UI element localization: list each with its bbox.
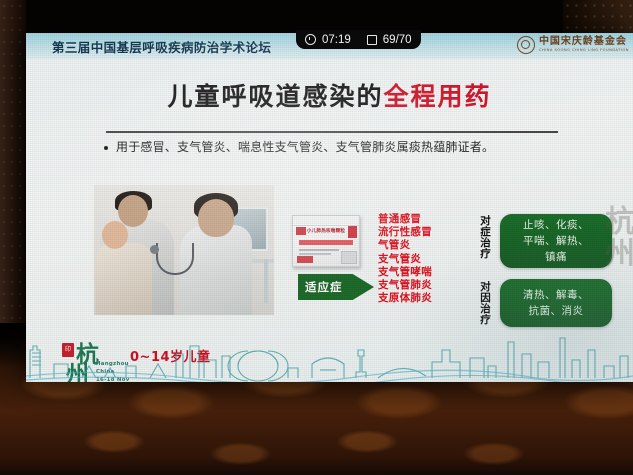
disease-item: 支气管炎: [378, 253, 432, 266]
stethoscope-diaphragm-icon: [150, 245, 159, 254]
hangzhou-city-skyline-graphic: [26, 320, 633, 382]
disease-item: 支气管哮喘: [378, 266, 432, 279]
bullet-row: 用于感冒、支气管炎、喘息性支气管炎、支气管肺炎属痰热蕴肺证者。: [104, 139, 607, 155]
sponsor-name-en: CHINA SOONG CHING LING FOUNDATION: [539, 49, 629, 53]
photo-doctor-head: [198, 199, 234, 237]
photo-parent-head: [118, 195, 148, 227]
disease-item: 流行性感冒: [378, 226, 432, 239]
soong-ching-ling-foundation-logo-icon: [517, 36, 535, 54]
medicine-package-corner: [341, 251, 357, 264]
title-divider: [106, 131, 558, 133]
slide-title: 儿童呼吸道感染的全程用药: [26, 77, 633, 113]
photo-child-head: [102, 221, 128, 249]
medicine-package-textline: [299, 249, 339, 251]
slide-title-plain: 儿童呼吸道感染的: [167, 82, 383, 111]
photo-desk-leg: [264, 259, 268, 303]
conference-title: 第三届中国基层呼吸疾病防治学术论坛: [52, 37, 271, 56]
indication-arrow-label: 适应症: [298, 279, 343, 295]
osd-page-counter: 69/70: [383, 34, 412, 46]
doctor-examining-child-photo: [94, 185, 274, 315]
presentation-slide: 第三届中国基层呼吸疾病防治学术论坛 中国宋庆龄基金会 CHINA SOONG C…: [26, 33, 633, 382]
medicine-package-textline: [299, 253, 331, 255]
osd-status-overlay: 07:19 69/70: [296, 30, 421, 49]
bullet-text: 用于感冒、支气管炎、喘息性支气管炎、支气管肺炎属痰热蕴肺证者。: [116, 139, 494, 155]
ceiling: [0, 0, 633, 34]
page-icon: [367, 35, 377, 45]
sponsor-logo: 中国宋庆龄基金会 CHINA SOONG CHING LING FOUNDATI…: [517, 36, 629, 54]
medicine-package-band: [299, 240, 353, 245]
disease-item: 普通感冒: [378, 213, 432, 226]
disease-item: 支气管肺炎: [378, 279, 432, 292]
photo-doctor-body: [180, 225, 252, 315]
osd-time: 07:19: [322, 34, 351, 46]
pharma-logo-icon: [297, 256, 313, 263]
photo-child-body: [96, 243, 152, 315]
disease-item: 支原体肺炎: [378, 292, 432, 305]
symptomatic-treatment-label: 对症治疗: [478, 216, 493, 260]
projection-screen: 第三届中国基层呼吸疾病防治学术论坛 中国宋庆龄基金会 CHINA SOONG C…: [26, 33, 633, 382]
medicine-package: 小儿肺热咳喘颗粒: [292, 215, 360, 267]
disease-item: 气管炎: [378, 239, 432, 252]
slide-title-highlight: 全程用药: [384, 82, 492, 111]
sponsor-name-cn: 中国宋庆龄基金会: [539, 37, 629, 47]
bullet-marker-icon: [104, 146, 108, 150]
medicine-package-top: [293, 216, 359, 226]
disease-list: 普通感冒 流行性感冒 气管炎 支气管炎 支气管哮喘 支气管肺炎 支原体肺炎: [378, 213, 432, 306]
medicine-package-tab: [348, 226, 357, 238]
clock-icon: [305, 34, 316, 45]
symptomatic-treatment-box: 止咳、化痰、平喘、解热、镇痛: [500, 214, 612, 268]
indication-arrow-badge: 适应症: [298, 274, 374, 300]
